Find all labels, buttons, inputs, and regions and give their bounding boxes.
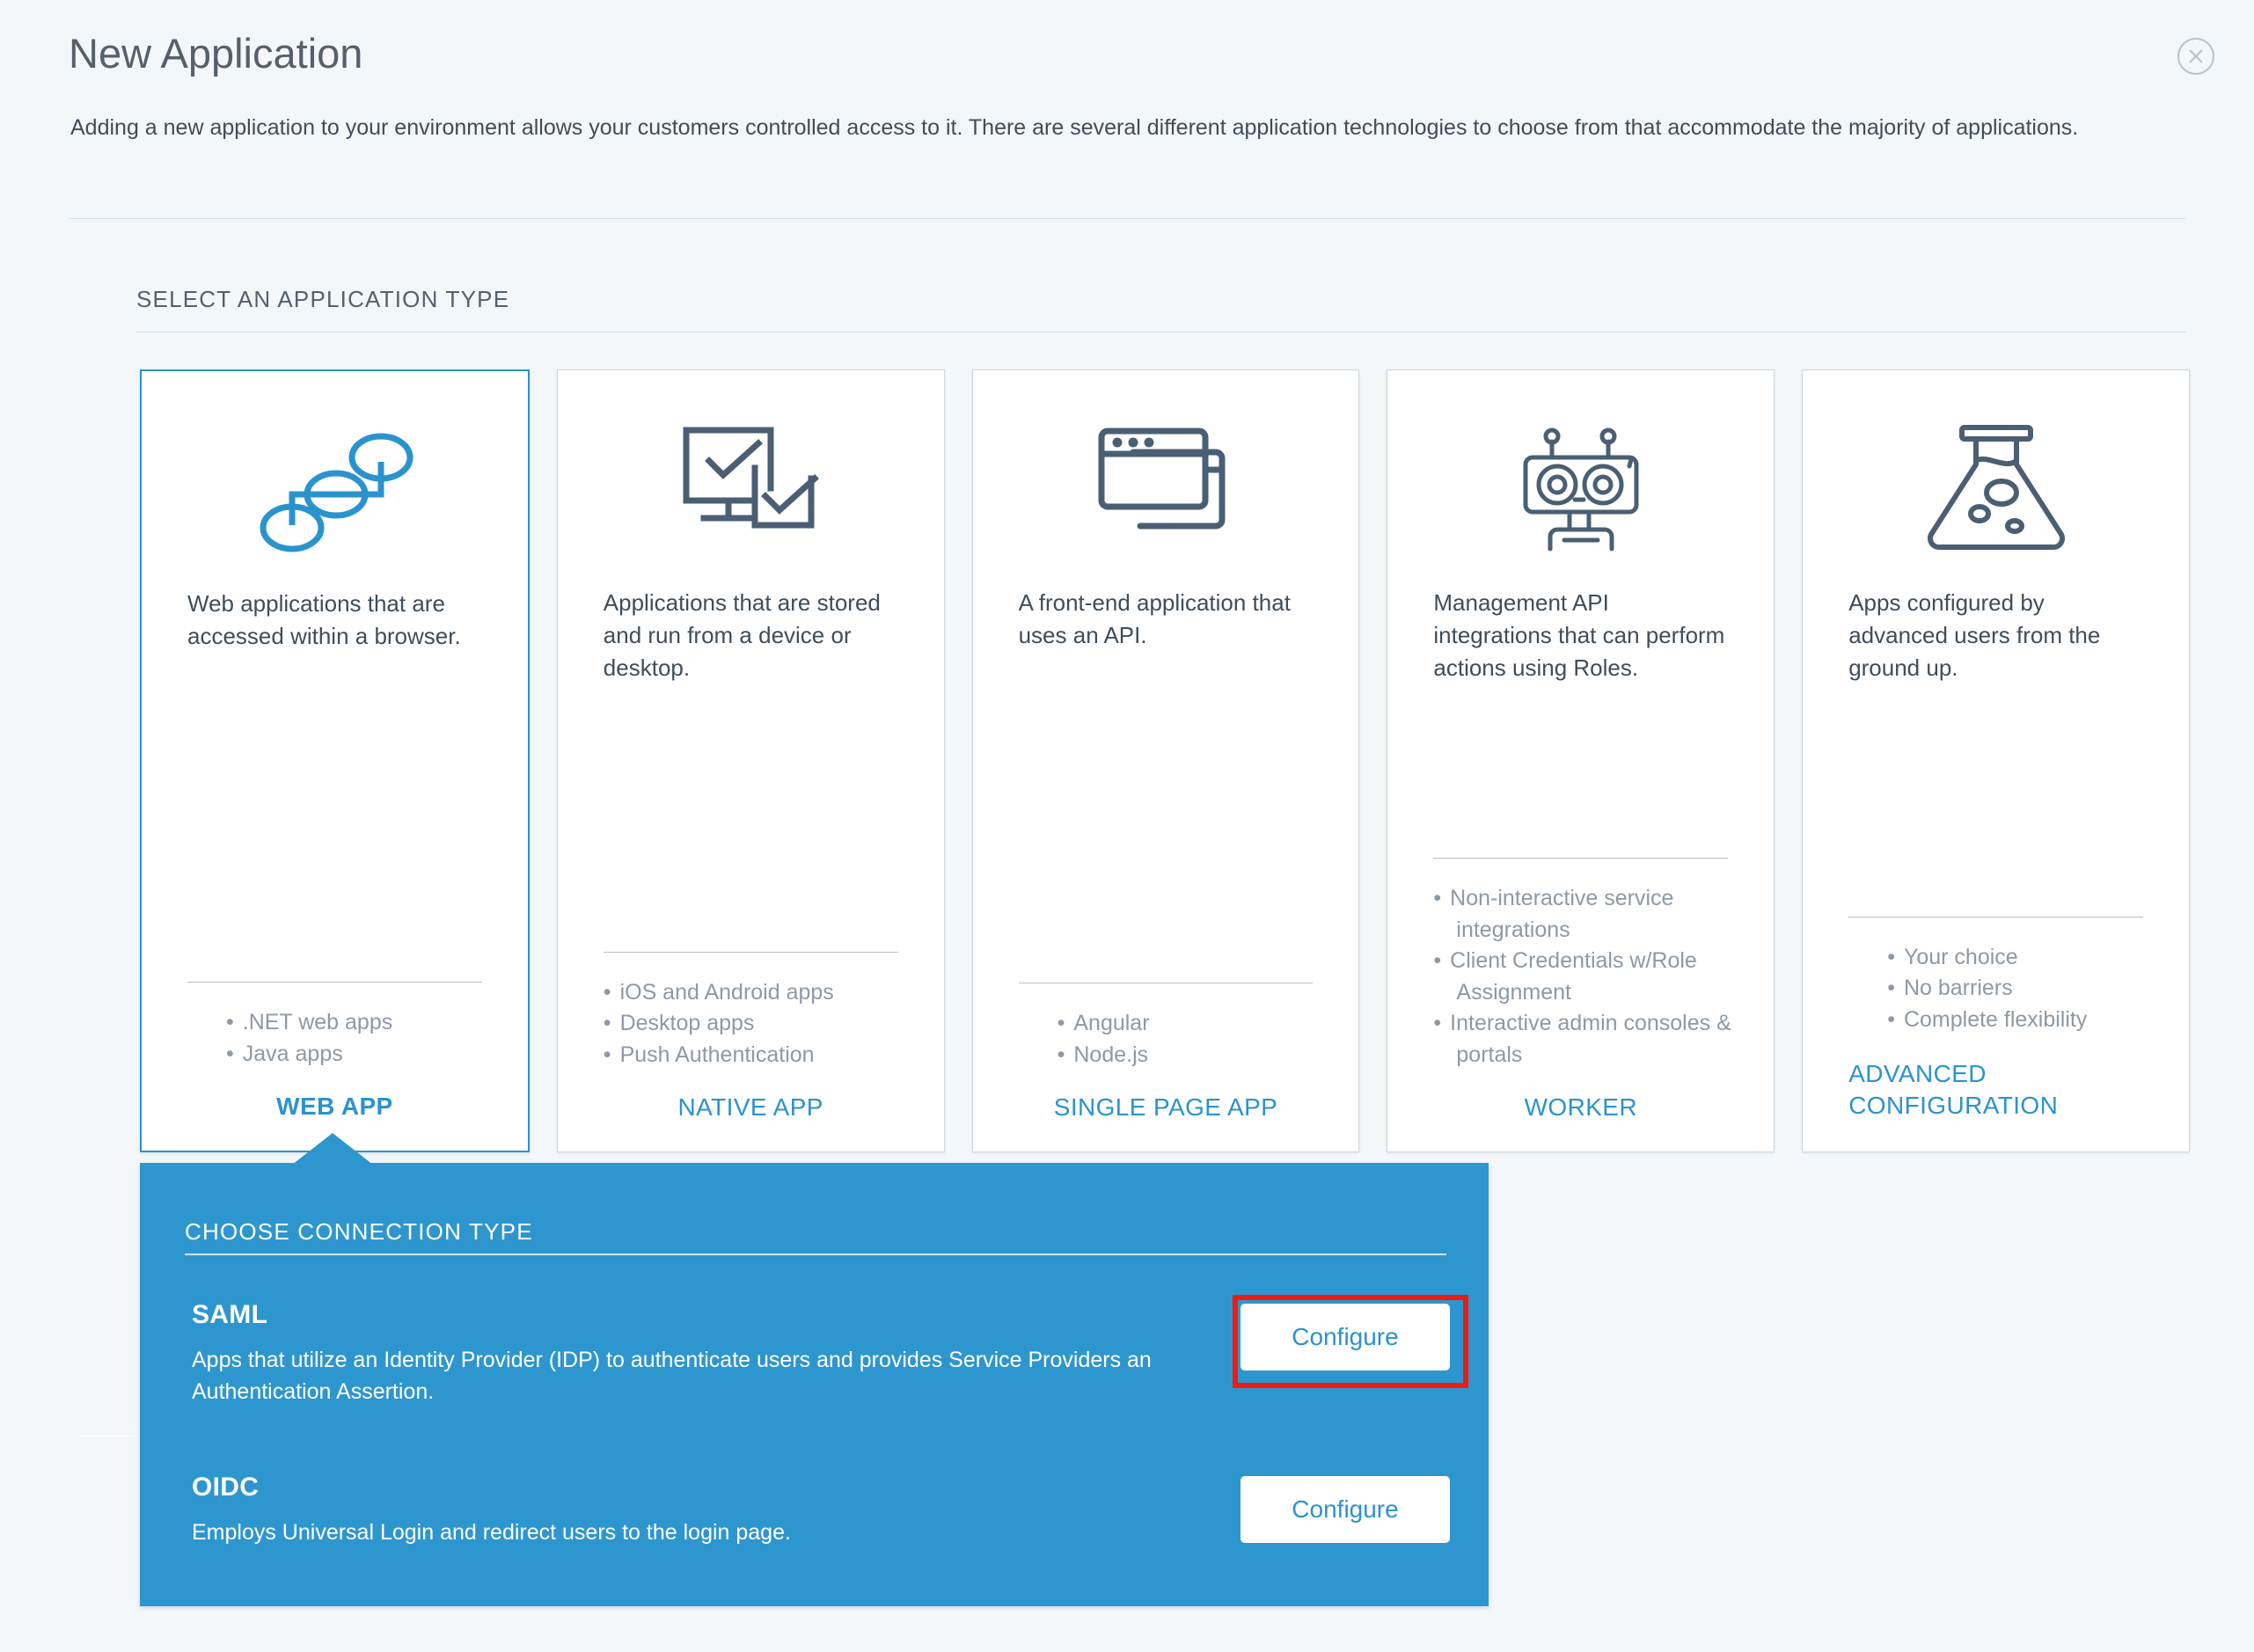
selected-card-caret-icon xyxy=(292,1133,373,1165)
bullet-dot: • xyxy=(1057,1042,1065,1067)
card-cta-single-page-app[interactable]: SINGLE PAGE APP xyxy=(973,1071,1359,1151)
bullet-dot: • xyxy=(1433,886,1441,910)
connection-title: SAML xyxy=(192,1300,1230,1330)
robot-icon xyxy=(1387,393,1774,587)
connection-option-saml: SAML Apps that utilize an Identity Provi… xyxy=(185,1300,1446,1441)
bullet-dot: • xyxy=(1887,945,1895,969)
list-item: •No barriers xyxy=(1887,973,2189,1005)
choose-connection-type-panel: CHOOSE CONNECTION TYPE SAML Apps that ut… xyxy=(140,1163,1489,1606)
list-item: •Push Authentication xyxy=(604,1040,944,1071)
section-label: SELECT AN APPLICATION TYPE xyxy=(136,286,509,313)
list-item-label: Interactive admin consoles & portals xyxy=(1450,1011,1731,1067)
list-item-label: Client Credentials w/Role Assignment xyxy=(1450,948,1697,1005)
list-item: •.NET web apps xyxy=(226,1007,528,1039)
bullet-dot: • xyxy=(1057,1011,1065,1035)
connection-title: OIDC xyxy=(192,1473,1230,1502)
list-item: •Java apps xyxy=(226,1039,528,1071)
card-bullet-list: •Angular •Node.js xyxy=(973,983,1359,1071)
list-item-label: Angular xyxy=(1073,1011,1149,1035)
close-icon[interactable] xyxy=(2177,37,2215,76)
list-item-label: Your choice xyxy=(1904,945,2018,969)
card-spacer xyxy=(142,653,528,982)
card-description: Web applications that are accessed withi… xyxy=(142,588,528,653)
card-description: Applications that are stored and run fro… xyxy=(558,587,944,684)
app-type-card-native-app[interactable]: Applications that are stored and run fro… xyxy=(557,369,945,1152)
connection-description: Employs Universal Login and redirect use… xyxy=(192,1517,1230,1548)
flask-icon xyxy=(1803,393,2189,587)
list-item-label: Java apps xyxy=(243,1042,343,1066)
list-item: •Desktop apps xyxy=(604,1008,944,1040)
card-spacer xyxy=(1387,684,1774,858)
app-type-card-single-page-app[interactable]: A front-end application that uses an API… xyxy=(972,369,1360,1152)
nodes-graph-icon xyxy=(142,394,528,588)
bullet-dot: • xyxy=(226,1010,234,1034)
list-item-label: Push Authentication xyxy=(620,1042,815,1067)
list-item: •Your choice xyxy=(1887,942,2189,974)
list-item: •Complete flexibility xyxy=(1887,1005,2189,1036)
section-divider xyxy=(136,332,2186,333)
list-item-label: Desktop apps xyxy=(620,1011,755,1035)
list-item-label: Non-interactive service integrations xyxy=(1450,886,1673,942)
card-cta-advanced-configuration[interactable]: ADVANCED CONFIGURATION xyxy=(1803,1035,2189,1151)
monitor-checkmark-icon xyxy=(558,393,944,587)
page-title: New Application xyxy=(69,31,362,77)
card-spacer xyxy=(1803,684,2189,917)
card-bullet-list: •.NET web apps •Java apps xyxy=(142,983,528,1070)
card-spacer xyxy=(973,652,1359,983)
panel-label: CHOOSE CONNECTION TYPE xyxy=(185,1218,533,1246)
connection-option-oidc: OIDC Employs Universal Login and redirec… xyxy=(185,1473,1446,1587)
bullet-dot: • xyxy=(1433,948,1441,973)
list-item: •iOS and Android apps xyxy=(604,977,944,1009)
list-item: •Angular xyxy=(1057,1008,1359,1040)
browser-windows-icon xyxy=(973,393,1359,587)
card-cta-native-app[interactable]: NATIVE APP xyxy=(558,1071,944,1151)
list-item-label: No barriers xyxy=(1904,976,2013,1000)
list-item: •Node.js xyxy=(1057,1040,1359,1071)
list-item-label: Complete flexibility xyxy=(1904,1007,2087,1032)
list-item: •Interactive admin consoles & portals xyxy=(1410,1008,1774,1071)
app-type-card-worker[interactable]: Management API integrations that can per… xyxy=(1387,369,1775,1152)
header-divider xyxy=(69,218,2185,219)
bullet-dot: • xyxy=(604,980,611,1005)
card-description: Apps configured by advanced users from t… xyxy=(1803,587,2189,684)
card-bullet-list: •Your choice •No barriers •Complete flex… xyxy=(1803,917,2189,1036)
card-cta-worker[interactable]: WORKER xyxy=(1387,1071,1774,1151)
connection-text: SAML Apps that utilize an Identity Provi… xyxy=(192,1300,1230,1407)
panel-divider xyxy=(185,1254,1446,1255)
bullet-dot: • xyxy=(226,1042,234,1066)
app-type-card-advanced-configuration[interactable]: Apps configured by advanced users from t… xyxy=(1802,369,2190,1152)
connection-description: Apps that utilize an Identity Provider (… xyxy=(192,1344,1230,1407)
bullet-dot: • xyxy=(1887,976,1895,1000)
card-bullet-list: •Non-interactive service integrations •C… xyxy=(1387,859,1774,1071)
configure-button-saml[interactable]: Configure xyxy=(1240,1304,1450,1371)
card-spacer xyxy=(558,684,944,952)
list-item: •Client Credentials w/Role Assignment xyxy=(1410,946,1774,1008)
header-description: Adding a new application to your environ… xyxy=(70,112,2182,145)
bullet-dot: • xyxy=(604,1011,611,1035)
card-bullet-list: •iOS and Android apps •Desktop apps •Pus… xyxy=(558,953,944,1071)
bullet-dot: • xyxy=(1433,1011,1441,1035)
connection-text: OIDC Employs Universal Login and redirec… xyxy=(192,1473,1230,1548)
card-description: A front-end application that uses an API… xyxy=(973,587,1359,652)
list-item-label: .NET web apps xyxy=(243,1010,392,1034)
bullet-dot: • xyxy=(1887,1007,1895,1032)
configure-button-oidc[interactable]: Configure xyxy=(1240,1476,1450,1543)
app-type-card-web-app[interactable]: Web applications that are accessed withi… xyxy=(140,369,530,1152)
card-description: Management API integrations that can per… xyxy=(1387,587,1774,684)
bullet-dot: • xyxy=(604,1042,611,1067)
list-item-label: Node.js xyxy=(1073,1042,1148,1067)
list-item: •Non-interactive service integrations xyxy=(1410,883,1774,946)
application-type-cards: Web applications that are accessed withi… xyxy=(140,369,2190,1152)
list-item-label: iOS and Android apps xyxy=(620,980,834,1005)
